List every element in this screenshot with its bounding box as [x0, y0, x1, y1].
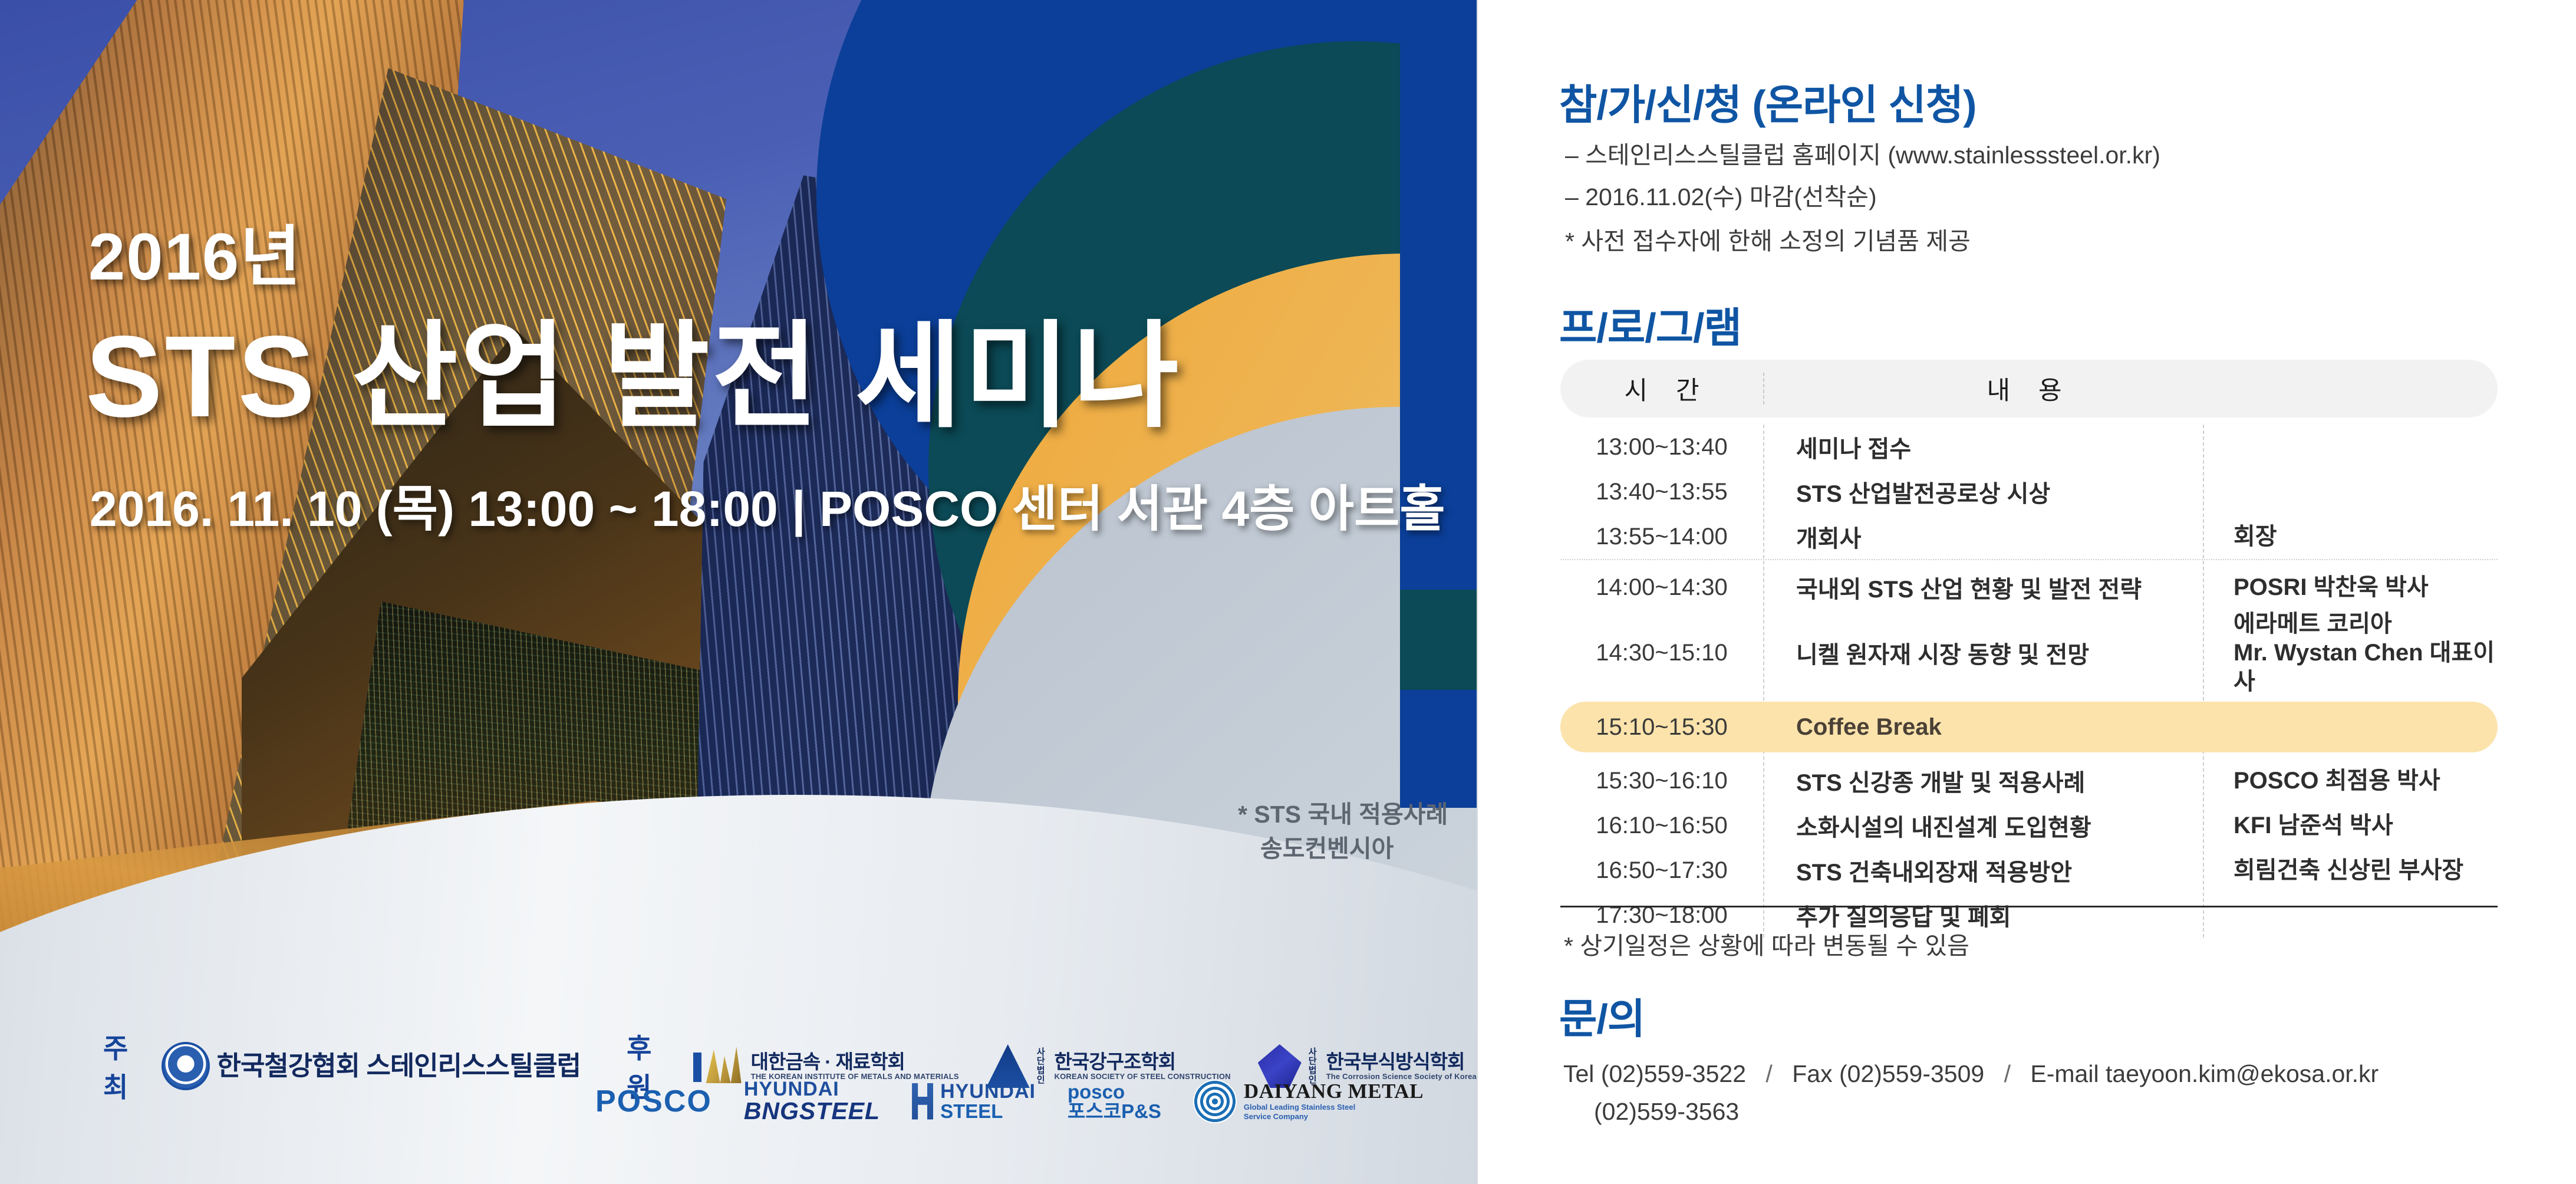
- column-header-time: 시 간: [1560, 370, 1763, 407]
- program-table-bottom-rule: [1560, 906, 2498, 907]
- table-row: 14:30~15:10 니켈 원자재 시장 동향 및 전망 에라메트 코리아 M…: [1560, 610, 2498, 696]
- row-time: 13:40~13:55: [1560, 479, 1763, 505]
- email-value[interactable]: taeyoon.kim@ekosa.or.kr: [2106, 1060, 2379, 1087]
- photo-caption-line-2: 송도컨벤시아: [1238, 831, 1448, 866]
- program-heading: 프/로/그/램: [1559, 295, 1741, 354]
- row-speaker: POSCO 최점용 박사: [2203, 767, 2498, 795]
- header-column-divider: [1763, 373, 1764, 404]
- row-description: 니켈 원자재 시장 동향 및 전망: [1763, 636, 2203, 670]
- poster-subtitle: 2016. 11. 10 (목) 13:00 ~ 18:00 | POSCO 센…: [90, 469, 1445, 541]
- table-row: 15:30~16:10 STS 신강종 개발 및 적용사례 POSCO 최점용 …: [1560, 758, 2498, 803]
- table-row: 16:10~16:50 소화시설의 내진설계 도입현황 KFI 남준석 박사: [1560, 803, 2498, 848]
- row-description: Coffee Break: [1763, 714, 2203, 741]
- row-speaker: 에라메트 코리아 Mr. Wystan Chen 대표이사: [2203, 610, 2498, 696]
- row-time: 14:30~15:10: [1560, 640, 1763, 666]
- row-time: 16:50~17:30: [1560, 857, 1763, 884]
- row-description: STS 신강종 개발 및 적용사례: [1763, 764, 2203, 798]
- row-speaker: 회장: [2203, 522, 2498, 551]
- row-time: 15:30~16:10: [1560, 768, 1763, 794]
- program-table-body: 13:00~13:40 세미나 접수 13:40~13:55 STS 산업발전공…: [1560, 425, 2498, 946]
- row-description: 국내외 STS 산업 현황 및 발전 전략: [1763, 570, 2203, 604]
- row-description: STS 건축내외장재 적용방안: [1763, 853, 2203, 887]
- row-time: 14:00~14:30: [1560, 574, 1763, 601]
- program-table: 시 간 내 용 13:00~13:40 세미나 접수 13:40~13:55 S…: [1560, 360, 2498, 946]
- row-description: 개회사: [1763, 519, 2203, 554]
- fax-label: Fax: [1792, 1060, 1832, 1087]
- contact-line-1: Tel (02)559-3522 / Fax (02)559-3509 / E-…: [1563, 1055, 2379, 1093]
- table-row: 13:00~13:40 세미나 접수: [1560, 425, 2498, 469]
- tel-label: Tel: [1563, 1060, 1594, 1087]
- apply-bullet-deadline: – 2016.11.02(수) 마감(선착순): [1565, 185, 2160, 209]
- row-description: 세미나 접수: [1763, 430, 2203, 464]
- photo-caption: * STS 국내 적용사례 송도컨벤시아: [1238, 797, 1448, 866]
- row-speaker: POSRI 박찬욱 박사: [2203, 573, 2498, 602]
- table-row: 16:50~17:30 STS 건축내외장재 적용방안 희림건축 신상린 부사장: [1560, 848, 2498, 893]
- row-time: 16:10~16:50: [1560, 813, 1763, 839]
- poster-title: STS 산업 발전 세미나: [85, 283, 1181, 450]
- decor-edge-navy-lower: [1400, 690, 1477, 808]
- contact-separator-1: /: [1753, 1060, 1785, 1087]
- table-row-highlighted: 15:10~15:30 Coffee Break: [1560, 702, 2498, 752]
- row-time: 13:00~13:40: [1560, 434, 1763, 461]
- row-speaker: 희림건축 신상린 부사장: [2203, 856, 2498, 885]
- column-header-description: 내 용: [1763, 370, 2285, 407]
- contact-separator-2: /: [1991, 1060, 2024, 1087]
- program-table-header: 시 간 내 용: [1560, 360, 2498, 417]
- apply-bullet-list: – 스테인리스스틸클럽 홈페이지 (www.stainlesssteel.or.…: [1565, 143, 2160, 227]
- photo-caption-line-1: * STS 국내 적용사례: [1238, 797, 1448, 831]
- row-description: 소화시설의 내진설계 도입현황: [1763, 808, 2203, 843]
- apply-note: * 사전 접수자에 한해 소정의 기념품 제공: [1565, 221, 1971, 256]
- contact-heading: 문/의: [1559, 986, 1645, 1045]
- row-description: STS 산업발전공로상 시상: [1763, 475, 2203, 509]
- contact-line-2: (02)559-3563: [1563, 1093, 2379, 1131]
- table-row: 14:00~14:30 국내외 STS 산업 현황 및 발전 전략 POSRI …: [1560, 565, 2498, 610]
- apply-bullet-website: – 스테인리스스틸클럽 홈페이지 (www.stainlesssteel.or.…: [1565, 143, 2160, 167]
- email-label: E-mail: [2030, 1060, 2099, 1087]
- fax-value: (02)559-3509: [1839, 1060, 1984, 1087]
- tel-value: (02)559-3522: [1601, 1060, 1746, 1087]
- row-time: 13:55~14:00: [1560, 524, 1763, 550]
- contact-details: Tel (02)559-3522 / Fax (02)559-3509 / E-…: [1563, 1055, 2379, 1130]
- apply-heading: 참/가/신/청 (온라인 신청): [1559, 72, 1976, 131]
- poster-artwork-panel: 2016년 STS 산업 발전 세미나 2016. 11. 10 (목) 13:…: [0, 0, 1477, 1184]
- poster-sheet: 2016년 STS 산업 발전 세미나 2016. 11. 10 (목) 13:…: [0, 0, 2576, 1184]
- row-speaker: KFI 남준석 박사: [2203, 811, 2498, 840]
- table-row: 13:55~14:00 개회사 회장: [1560, 514, 2498, 559]
- program-footnote: * 상기일정은 상황에 따라 변동될 수 있음: [1564, 926, 1969, 961]
- row-time: 15:10~15:30: [1560, 714, 1763, 741]
- info-panel: 참/가/신/청 (온라인 신청) – 스테인리스스틸클럽 홈페이지 (www.s…: [1478, 0, 2576, 1184]
- table-row: 13:40~13:55 STS 산업발전공로상 시상: [1560, 469, 2498, 514]
